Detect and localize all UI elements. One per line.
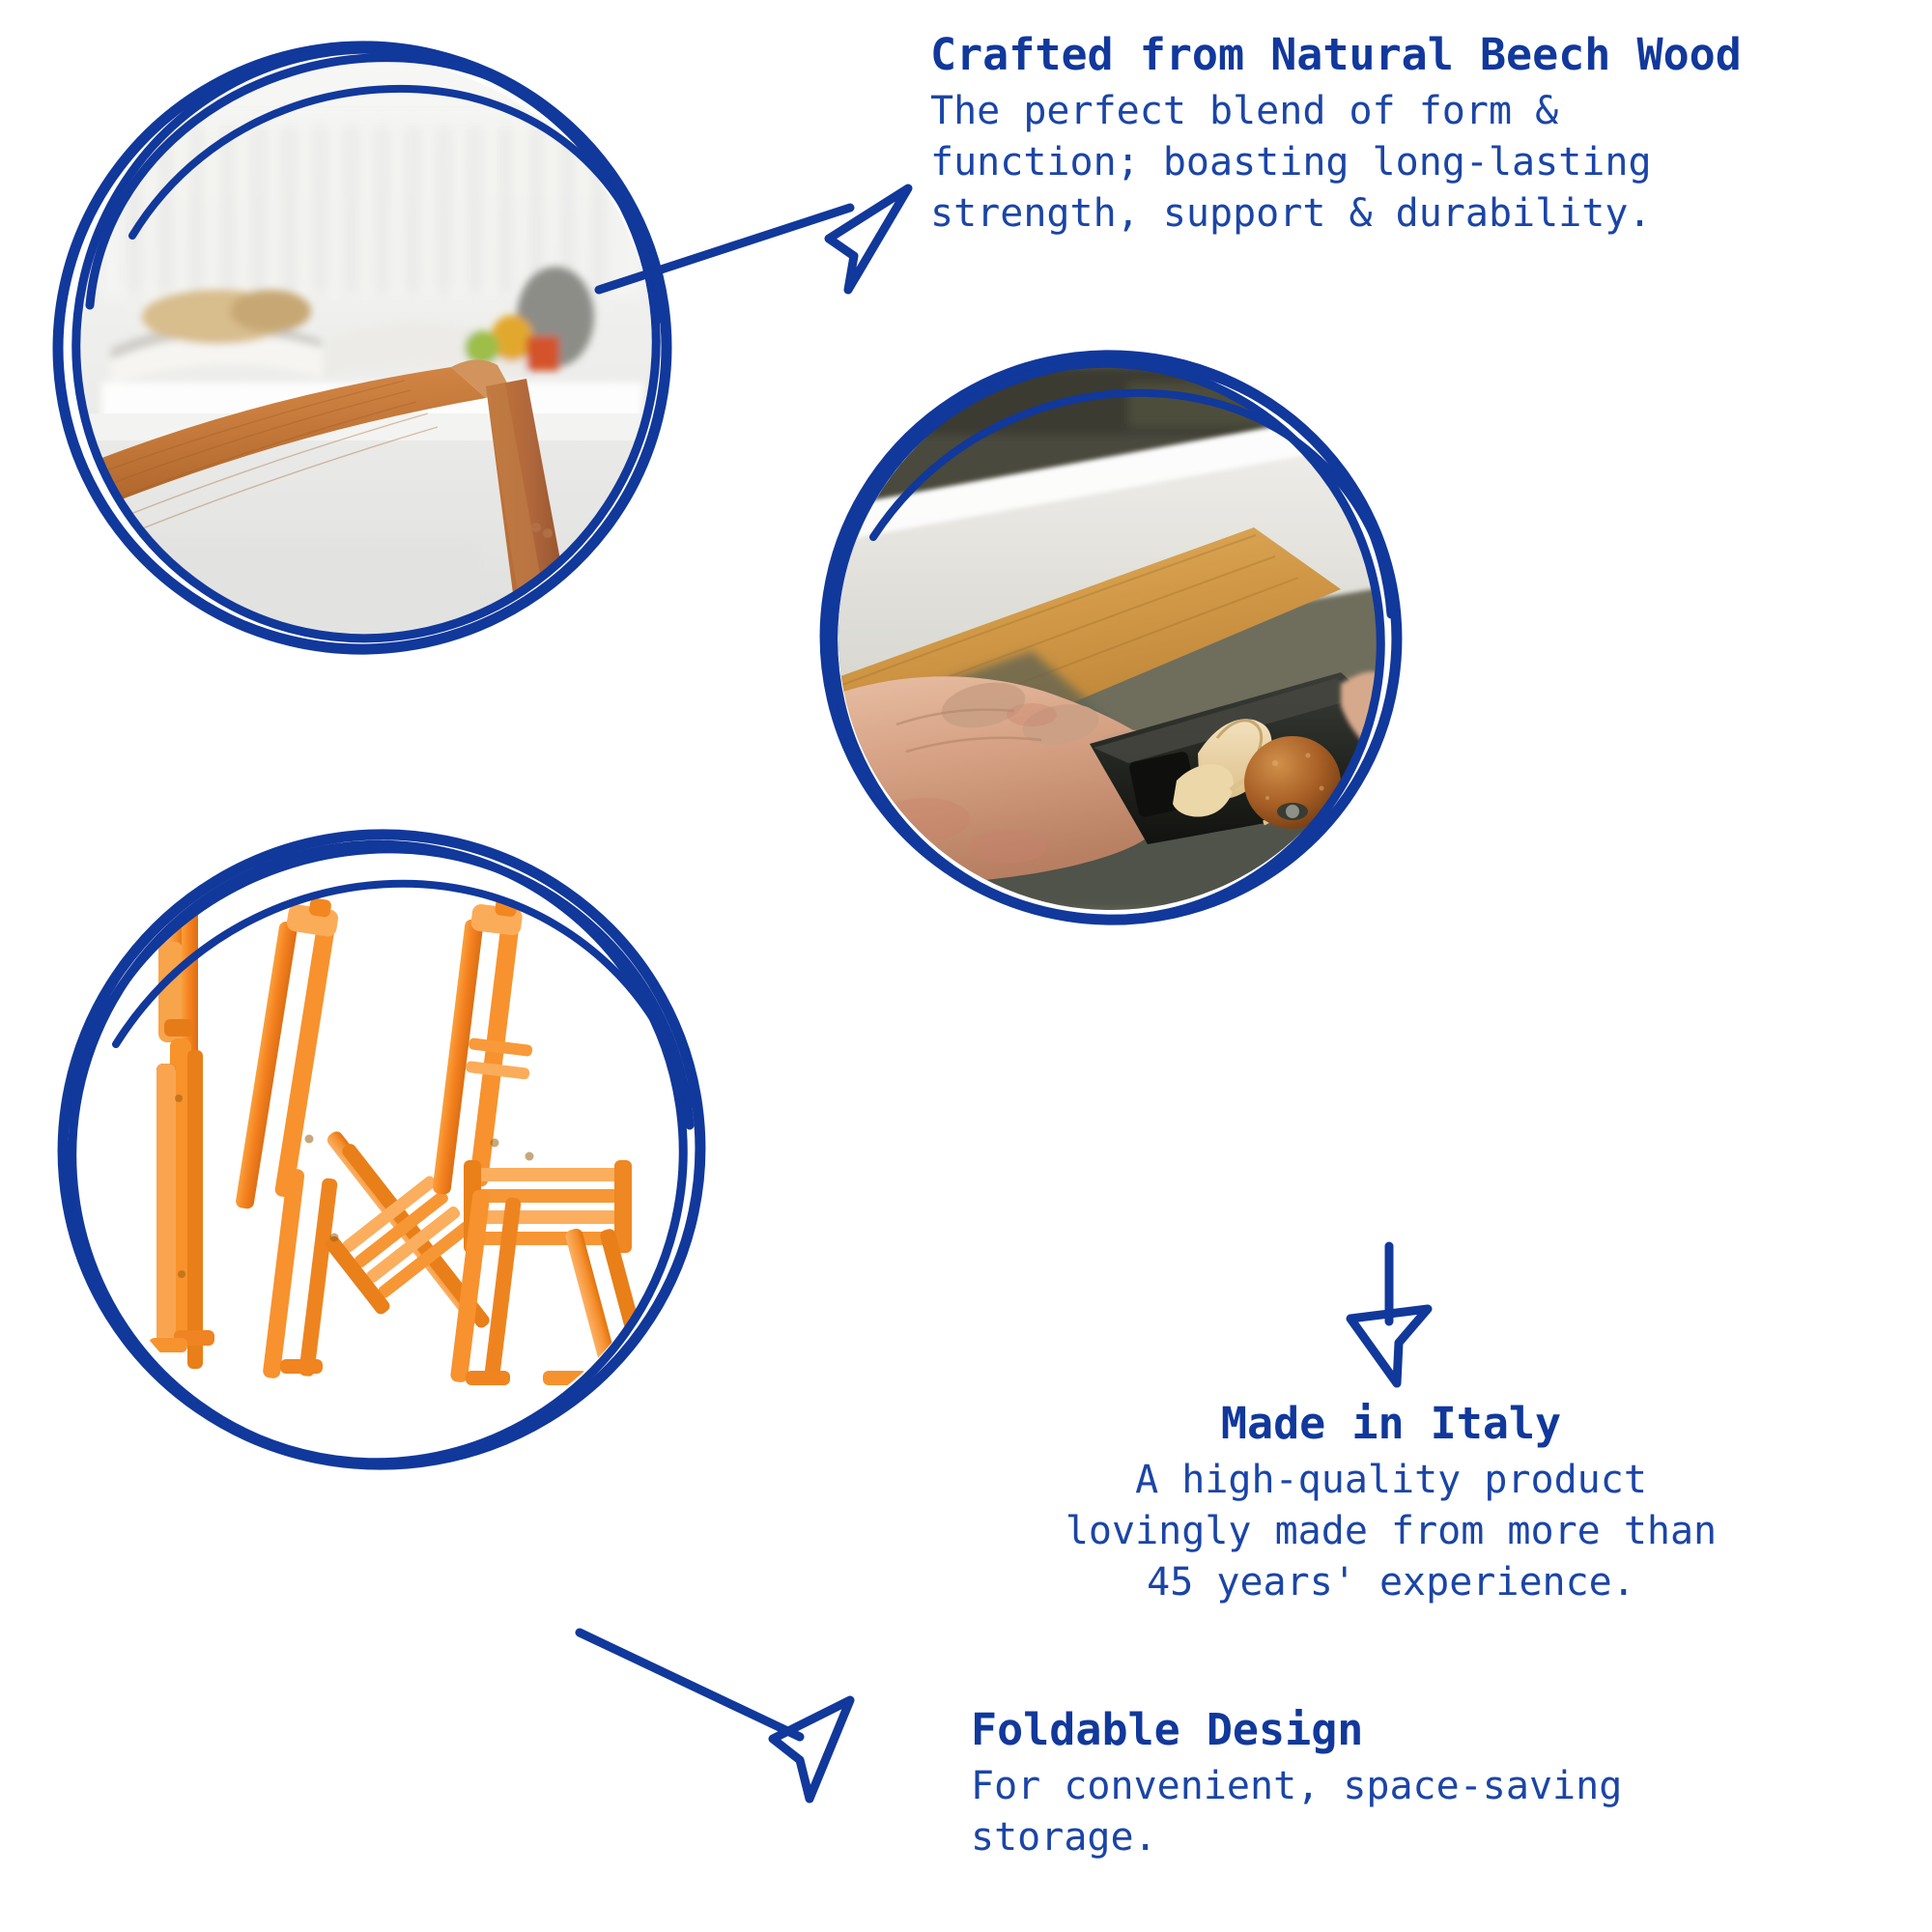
beech-wood-photo — [72, 58, 652, 638]
arrow-left-icon-head — [829, 188, 908, 290]
feature-body-foldable-design: For convenient, space-saving storage. — [971, 1761, 1889, 1863]
feature-heading-made-in-italy: Made in Italy — [966, 1398, 1816, 1449]
feature-text-foldable-design: Foldable Design For convenient, space-sa… — [971, 1704, 1889, 1863]
hand-plane-photo-art — [838, 365, 1383, 910]
hand-plane-photo — [838, 365, 1383, 910]
folding-chairs-photo — [81, 849, 682, 1450]
folding-chairs-art — [81, 849, 682, 1450]
arrow-left-icon-head-2 — [773, 1700, 850, 1799]
feature-image-made-in-italy — [811, 338, 1410, 937]
feature-body-made-in-italy: A high-quality product lovingly made fro… — [966, 1455, 1816, 1609]
feature-body-beech-wood: The perfect blend of form & function; bo… — [930, 86, 1896, 241]
feature-heading-foldable-design: Foldable Design — [971, 1704, 1889, 1755]
beech-wood-photo-art — [72, 58, 652, 638]
arrow-left-icon-stem-2 — [580, 1633, 800, 1737]
infographic-canvas: Crafted from Natural Beech Wood The perf… — [0, 0, 1932, 1932]
feature-text-made-in-italy: Made in Italy A high-quality product lov… — [966, 1398, 1816, 1609]
feature-image-beech-wood — [43, 29, 681, 667]
arrow-down-icon-head — [1350, 1309, 1428, 1383]
feature-image-foldable-design — [48, 816, 715, 1483]
feature-text-beech-wood: Crafted from Natural Beech Wood The perf… — [930, 29, 1896, 241]
feature-heading-beech-wood: Crafted from Natural Beech Wood — [930, 29, 1896, 80]
